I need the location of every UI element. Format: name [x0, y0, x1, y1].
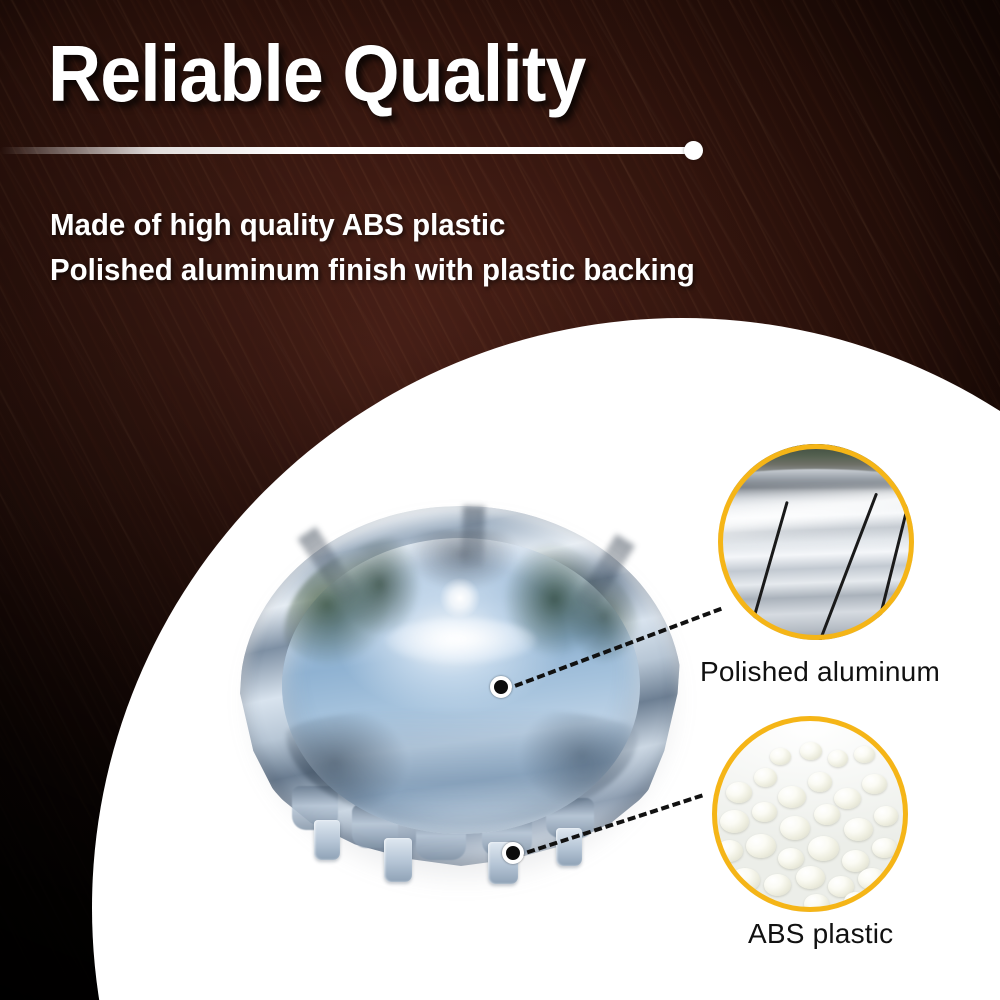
caption-abs-plastic: ABS plastic [748, 918, 893, 950]
bullet-text-2: Polished aluminum finish with plastic ba… [50, 252, 695, 288]
chrome-reflection-cloud [386, 618, 536, 664]
cap-mounting-leg [314, 820, 340, 860]
marker-abs-plastic[interactable] [502, 842, 524, 864]
caption-polished-aluminum: Polished aluminum [700, 656, 940, 688]
inset-photo-polished-aluminum [718, 444, 914, 640]
cap-mounting-leg [384, 838, 412, 882]
abs-pellet-field [712, 716, 908, 912]
title-divider [0, 147, 700, 154]
product-image-chrome-center-cap [226, 486, 696, 896]
divider-knob-icon [684, 141, 703, 160]
cap-spoke-shadow [461, 506, 485, 569]
aluminum-specular-sheen [718, 487, 914, 546]
bullet-text-1: Made of high quality ABS plastic [50, 207, 505, 243]
chrome-reflection-sun-glint [440, 578, 480, 618]
product-infographic: Reliable Quality Made of high quality AB… [0, 0, 1000, 1000]
inset-photo-abs-plastic [712, 716, 908, 912]
page-title: Reliable Quality [48, 34, 585, 114]
marker-polished-aluminum[interactable] [490, 676, 512, 698]
